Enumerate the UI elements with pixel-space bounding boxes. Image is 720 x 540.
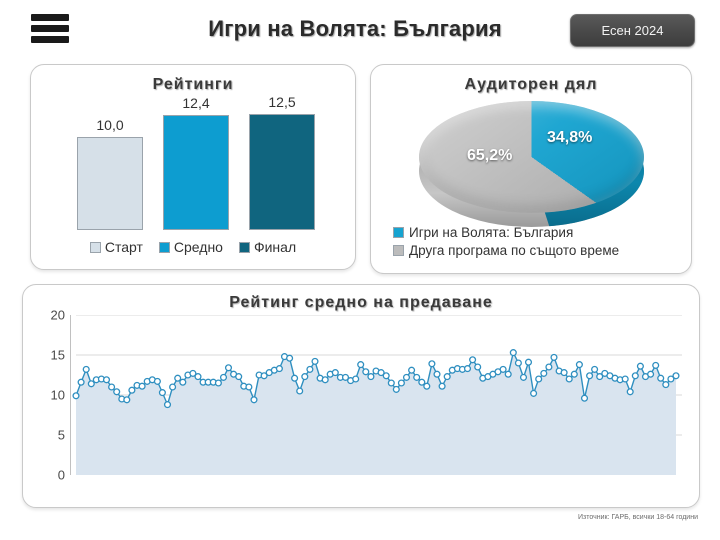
data-point-marker[interactable] [322,377,328,383]
data-point-marker[interactable] [83,367,89,373]
data-point-marker[interactable] [88,381,94,387]
data-point-marker[interactable] [577,362,583,368]
legend-label: Друга програма по същото време [409,243,619,258]
data-point-marker[interactable] [653,363,659,369]
data-point-marker[interactable] [287,355,293,361]
line-panel-title: Рейтинг средно на предаване [23,294,699,312]
data-point-marker[interactable] [251,397,257,403]
bar-chart: 10,012,412,5 [77,105,315,230]
data-point-marker[interactable] [592,367,598,373]
legend-label: Игри на Волята: България [409,225,573,240]
dashboard-page: Игри на Волята: България Есен 2024 Рейти… [0,0,720,540]
data-point-marker[interactable] [383,373,389,379]
data-point-marker[interactable] [516,360,522,366]
data-point-marker[interactable] [114,389,120,395]
line-chart: 05101520 [39,315,687,493]
data-point-marker[interactable] [663,382,669,388]
data-point-marker[interactable] [658,375,664,381]
ratings-panel: Рейтинги 10,012,412,5 СтартСредноФинал [30,64,356,270]
data-point-marker[interactable] [358,362,364,368]
data-point-marker[interactable] [129,387,135,393]
legend-item[interactable]: Финал [239,239,296,255]
ratings-panel-title: Рейтинги [31,76,355,94]
data-point-marker[interactable] [399,380,405,386]
data-point-marker[interactable] [246,384,252,390]
data-point-marker[interactable] [170,384,176,390]
data-point-marker[interactable] [124,397,130,403]
hamburger-bar [31,25,69,32]
pie-slice-label-other: 65,2% [467,147,512,165]
data-point-marker[interactable] [302,374,308,380]
data-point-marker[interactable] [404,375,410,381]
data-point-marker[interactable] [236,374,242,380]
bar-value-label: 12,5 [249,94,315,110]
bar-rect[interactable] [77,137,143,230]
data-point-marker[interactable] [175,375,181,381]
data-point-marker[interactable] [424,383,430,389]
data-point-marker[interactable] [221,375,227,381]
hamburger-menu-icon[interactable] [31,14,69,43]
data-point-marker[interactable] [414,375,420,381]
data-point-marker[interactable] [363,369,369,375]
data-point-marker[interactable] [368,374,374,380]
data-point-marker[interactable] [139,383,145,389]
data-point-marker[interactable] [226,365,232,371]
data-point-marker[interactable] [180,379,186,385]
data-point-marker[interactable] [648,371,654,377]
legend-swatch-icon [159,242,170,253]
data-point-marker[interactable] [551,355,557,361]
data-point-marker[interactable] [160,390,166,396]
legend-label: Старт [105,239,143,255]
data-point-marker[interactable] [165,402,171,408]
season-badge[interactable]: Есен 2024 [570,14,695,47]
legend-swatch-icon [239,242,250,253]
data-point-marker[interactable] [312,359,318,365]
data-point-marker[interactable] [277,366,283,372]
y-axis-tick-label: 10 [39,388,65,403]
data-point-marker[interactable] [531,391,537,397]
y-axis-tick-label: 0 [39,468,65,483]
data-point-marker[interactable] [673,373,679,379]
data-point-marker[interactable] [475,364,481,370]
legend-swatch-icon [393,245,404,256]
data-point-marker[interactable] [526,359,532,365]
data-point-marker[interactable] [500,367,506,373]
data-point-marker[interactable] [429,361,435,367]
hamburger-bar [31,14,69,21]
source-note: Източник: ГАРБ, всички 18-64 години [498,514,698,521]
data-point-marker[interactable] [434,371,440,377]
y-axis-tick-label: 5 [39,428,65,443]
legend-label: Средно [174,239,223,255]
data-point-marker[interactable] [195,374,201,380]
data-point-marker[interactable] [419,379,425,385]
data-point-marker[interactable] [627,389,633,395]
bar-column[interactable]: 12,5 [249,105,315,230]
bar-value-label: 12,4 [163,95,229,111]
pie-chart: 34,8% 65,2% [419,101,644,221]
legend-item[interactable]: Старт [90,239,143,255]
pie-slice-label-primary: 34,8% [547,129,592,147]
data-point-marker[interactable] [587,373,593,379]
page-title: Игри на Волята: България [160,16,550,42]
data-point-marker[interactable] [561,370,567,376]
data-point-marker[interactable] [216,380,222,386]
data-point-marker[interactable] [582,395,588,401]
line-chart-svg [70,315,682,477]
data-point-marker[interactable] [78,379,84,385]
data-point-marker[interactable] [566,376,572,382]
bar-value-label: 10,0 [77,117,143,133]
legend-swatch-icon [393,227,404,238]
data-point-marker[interactable] [388,380,394,386]
data-point-marker[interactable] [510,350,516,356]
data-point-marker[interactable] [353,376,359,382]
data-point-marker[interactable] [521,375,527,381]
bar-rect[interactable] [249,114,315,230]
data-point-marker[interactable] [439,383,445,389]
data-point-marker[interactable] [541,371,547,377]
data-point-marker[interactable] [622,376,628,382]
legend-item[interactable]: Друга програма по същото време [393,243,683,258]
audience-share-panel: Аудиторен дял 34,8% 65,2% Игри на Волята… [370,64,692,274]
data-point-marker[interactable] [307,367,313,373]
share-panel-title: Аудиторен дял [371,76,691,94]
bar-column[interactable]: 10,0 [77,105,143,230]
data-point-marker[interactable] [638,363,644,369]
data-point-marker[interactable] [546,364,552,370]
legend-item[interactable]: Игри на Волята: България [393,225,683,240]
page-header: Игри на Волята: България Есен 2024 [0,0,720,58]
data-point-marker[interactable] [632,373,638,379]
data-point-marker[interactable] [297,388,303,394]
data-point-marker[interactable] [470,357,476,363]
average-rating-panel: Рейтинг средно на предаване 05101520 [22,284,700,508]
data-point-marker[interactable] [465,366,471,372]
y-axis-tick-label: 15 [39,348,65,363]
legend-label: Финал [254,239,296,255]
bar-column[interactable]: 12,4 [163,105,229,230]
data-point-marker[interactable] [444,374,450,380]
data-point-marker[interactable] [292,375,298,381]
y-axis-tick-label: 20 [39,308,65,323]
data-point-marker[interactable] [505,371,511,377]
pie-surface [419,101,644,213]
data-point-marker[interactable] [332,370,338,376]
bar-rect[interactable] [163,115,229,230]
data-point-marker[interactable] [571,371,577,377]
data-point-marker[interactable] [393,387,399,393]
data-point-marker[interactable] [155,379,161,385]
data-point-marker[interactable] [536,376,542,382]
data-point-marker[interactable] [109,384,115,390]
pie-chart-legend: Игри на Волята: БългарияДруга програма п… [393,225,683,261]
data-point-marker[interactable] [409,367,415,373]
data-point-marker[interactable] [104,377,110,383]
hamburger-bar [31,36,69,43]
bar-chart-legend: СтартСредноФинал [31,239,355,255]
legend-swatch-icon [90,242,101,253]
legend-item[interactable]: Средно [159,239,223,255]
data-point-marker[interactable] [73,393,79,399]
